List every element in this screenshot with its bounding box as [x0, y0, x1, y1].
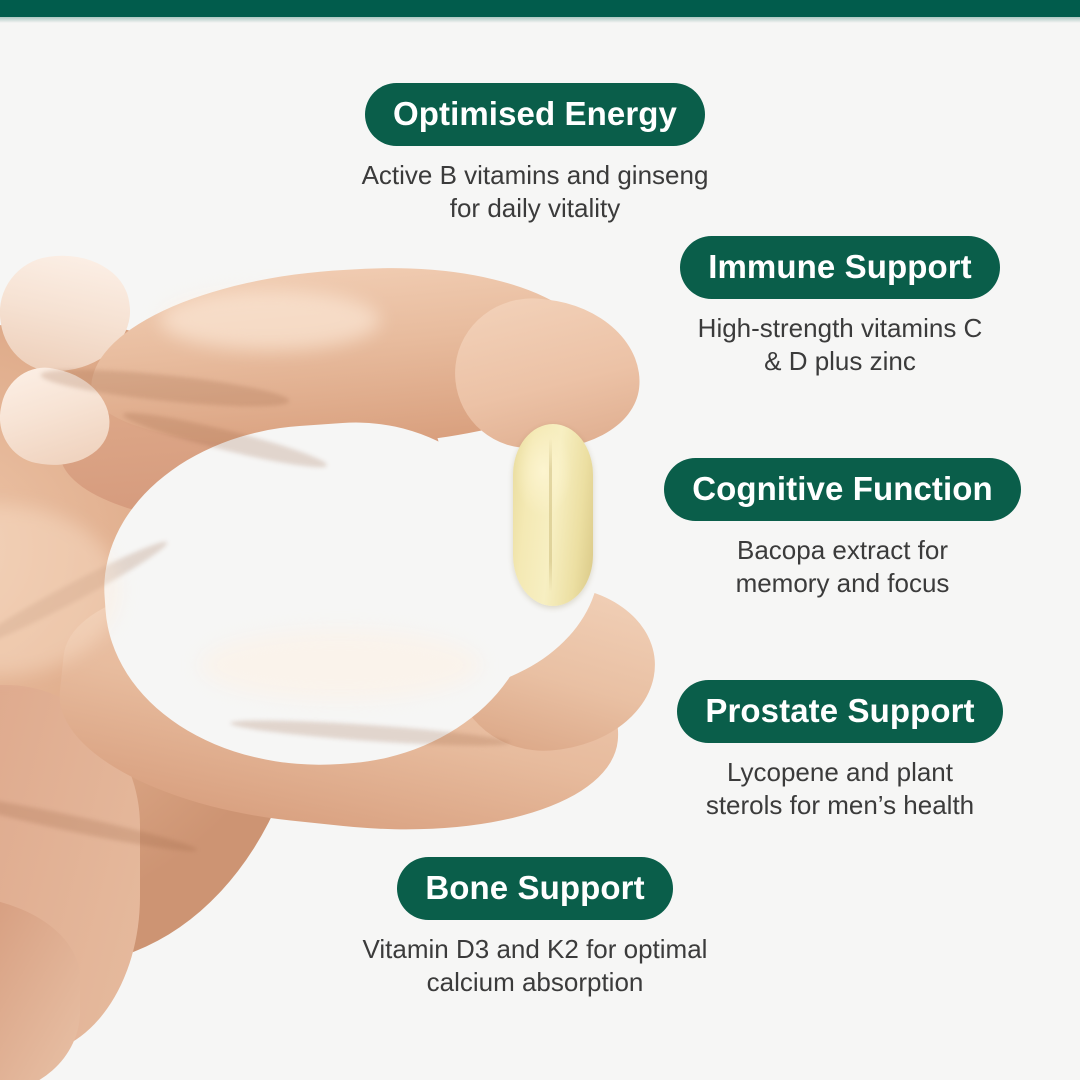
- description-cognitive-function: Bacopa extract for memory and focus: [660, 534, 1025, 600]
- description-immune-support: High-strength vitamins C & D plus zinc: [660, 312, 1020, 378]
- callout-cognitive-function: Cognitive Function Bacopa extract for me…: [660, 458, 1025, 600]
- badge-prostate-support[interactable]: Prostate Support: [677, 680, 1002, 743]
- supplement-tablet: [513, 424, 593, 606]
- badge-optimised-energy[interactable]: Optimised Energy: [365, 83, 705, 146]
- description-prostate-support: Lycopene and plant sterols for men’s hea…: [660, 756, 1020, 822]
- product-benefits-graphic: Optimised Energy Active B vitamins and g…: [0, 0, 1080, 1080]
- badge-cognitive-function[interactable]: Cognitive Function: [664, 458, 1021, 521]
- tablet-score-line: [549, 438, 552, 592]
- description-bone-support: Vitamin D3 and K2 for optimal calcium ab…: [330, 933, 740, 999]
- callout-bone-support: Bone Support Vitamin D3 and K2 for optim…: [330, 857, 740, 999]
- callout-prostate-support: Prostate Support Lycopene and plant ster…: [660, 680, 1020, 822]
- description-optimised-energy: Active B vitamins and ginseng for daily …: [330, 159, 740, 225]
- finger-highlight: [160, 290, 380, 350]
- callout-optimised-energy: Optimised Energy Active B vitamins and g…: [330, 83, 740, 225]
- top-brand-bar: [0, 0, 1080, 17]
- badge-immune-support[interactable]: Immune Support: [680, 236, 1000, 299]
- badge-bone-support[interactable]: Bone Support: [397, 857, 672, 920]
- top-brand-bar-shadow: [0, 17, 1080, 23]
- thumb-highlight: [200, 630, 480, 700]
- callout-immune-support: Immune Support High-strength vitamins C …: [660, 236, 1020, 378]
